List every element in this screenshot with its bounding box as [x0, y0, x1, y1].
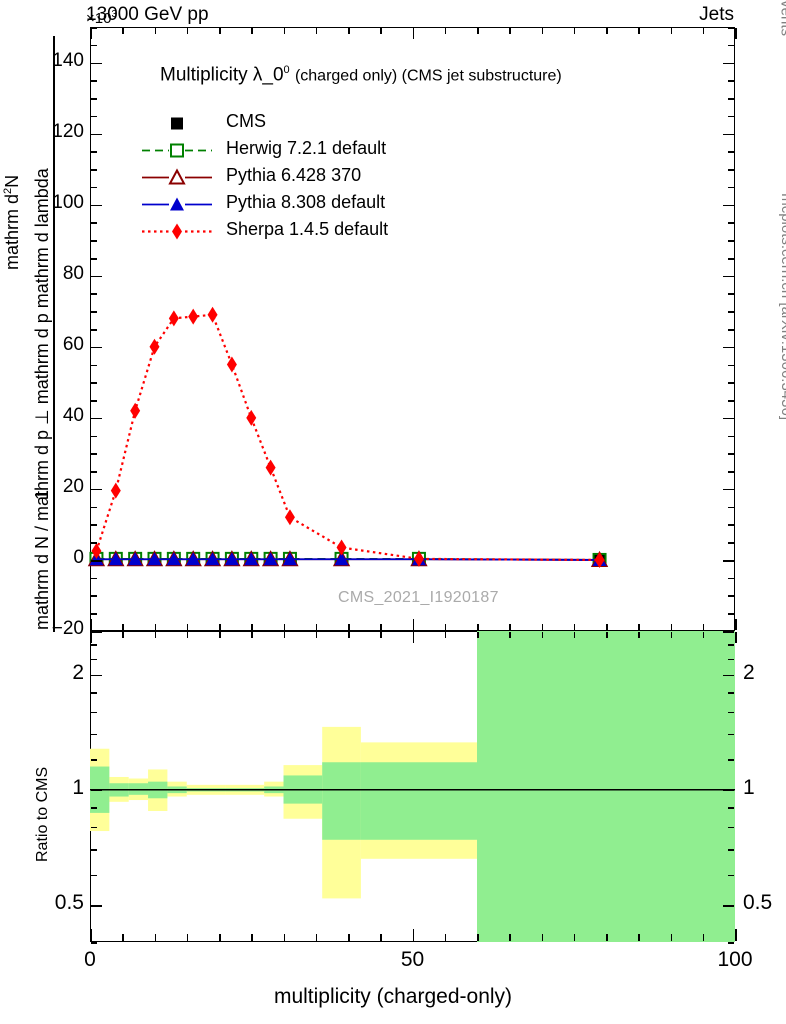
ratio-x-tick-bottom: [284, 934, 286, 941]
x-tick-bottom: [445, 624, 447, 630]
x-tick-bottom: [284, 624, 286, 630]
legend-symbol: [140, 137, 214, 164]
y-minor-tick: [91, 329, 97, 331]
data-marker-square-open: [171, 145, 183, 157]
ratio-minor-tick-right: [728, 734, 734, 736]
ratio-x-tick-top: [413, 632, 415, 643]
y-minor-tick: [91, 382, 97, 384]
x-tick-bottom: [413, 619, 415, 630]
y-minor-tick-right: [728, 45, 734, 47]
y-minor-tick-right: [728, 471, 734, 473]
x-tick-top: [703, 28, 705, 34]
y-minor-tick-right: [728, 507, 734, 509]
ratio-minor-tick: [91, 942, 97, 944]
x-tick-label: 0: [60, 948, 120, 972]
y-minor-tick-right: [728, 311, 734, 313]
ratio-x-tick-bottom: [671, 934, 673, 941]
y-minor-tick: [91, 80, 97, 82]
y-minor-tick: [91, 436, 97, 438]
y-minor-tick-right: [728, 293, 734, 295]
plot-canvas: ×103 13000 GeV pp Jets Multiplicity λ_00…: [0, 0, 786, 1024]
ratio-major-tick-right: [723, 905, 734, 907]
legend-symbol: [140, 164, 214, 191]
data-marker-diamond: [208, 307, 218, 323]
beam-label: 13000 GeV pp: [86, 4, 209, 26]
y-minor-tick-right: [728, 80, 734, 82]
y-minor-tick: [91, 45, 97, 47]
data-marker-triangle-open: [170, 171, 184, 184]
ratio-major-tick: [91, 905, 102, 907]
ratio-x-tick-top: [638, 632, 640, 638]
ratio-x-tick-top: [477, 632, 479, 638]
legend-label: Herwig 7.2.1 default: [226, 138, 386, 159]
y-minor-tick-right: [728, 453, 734, 455]
ratio-x-tick-bottom: [574, 934, 576, 941]
ratio-major-tick: [91, 675, 102, 677]
y-minor-tick: [91, 542, 97, 544]
y-minor-tick: [91, 524, 97, 526]
y-major-tick-right: [723, 560, 734, 562]
ratio-x-tick-bottom: [187, 934, 189, 941]
ratio-minor-tick-right: [728, 807, 734, 809]
ratio-minor-tick-right: [728, 659, 734, 661]
x-tick-bottom: [671, 624, 673, 630]
y-minor-tick: [91, 400, 97, 402]
ratio-plot-graphics: [90, 631, 735, 942]
ratio-minor-tick-right: [728, 942, 734, 944]
x-tick-top: [477, 28, 479, 34]
ratio-x-tick-top: [380, 632, 382, 638]
y-major-tick: [91, 63, 102, 65]
legend-label: Sherpa 1.4.5 default: [226, 219, 388, 240]
x-tick-bottom: [509, 624, 511, 630]
y-major-tick: [91, 134, 102, 136]
data-marker-diamond: [130, 403, 140, 419]
y-minor-tick: [91, 613, 97, 615]
ratio-x-tick-top: [90, 632, 92, 643]
ratio-minor-tick: [91, 734, 97, 736]
y-minor-tick: [91, 507, 97, 509]
y-minor-tick: [91, 311, 97, 313]
ratio-minor-tick: [91, 659, 97, 661]
y-major-tick-right: [723, 134, 734, 136]
ratio-x-tick-bottom: [122, 934, 124, 941]
x-tick-label: 100: [705, 948, 765, 972]
ratio-x-tick-bottom: [703, 934, 705, 941]
x-tick-bottom: [477, 624, 479, 630]
y-major-tick: [91, 560, 102, 562]
series-4: [91, 307, 604, 568]
y-major-tick-right: [723, 347, 734, 349]
analysis-id-watermark: CMS_2021_I1920187: [338, 589, 499, 607]
ratio-tick-label: 0.5: [32, 891, 84, 915]
ratio-tick-label-right: 1: [743, 776, 755, 800]
y-major-tick: [91, 489, 102, 491]
data-marker-square: [171, 118, 183, 130]
y-minor-tick-right: [728, 329, 734, 331]
ratio-x-tick-top: [348, 632, 350, 638]
ratio-x-tick-bottom: [445, 934, 447, 941]
y-minor-tick: [91, 98, 97, 100]
x-tick-bottom: [703, 624, 705, 630]
x-tick-top: [155, 28, 157, 34]
y-major-tick-right: [723, 418, 734, 420]
ratio-x-tick-bottom: [251, 934, 253, 941]
y-minor-tick: [91, 471, 97, 473]
x-tick-top: [284, 28, 286, 34]
y-minor-tick-right: [728, 151, 734, 153]
ratio-minor-tick: [91, 849, 97, 851]
y-minor-tick: [91, 169, 97, 171]
y-minor-tick-right: [728, 524, 734, 526]
x-tick-label: 50: [383, 948, 443, 972]
ratio-x-tick-top: [445, 632, 447, 638]
y-minor-tick: [91, 293, 97, 295]
y-minor-tick-right: [728, 240, 734, 242]
ratio-minor-tick: [91, 875, 97, 877]
ratio-x-tick-bottom: [542, 934, 544, 941]
x-tick-bottom: [380, 624, 382, 630]
ratio-minor-tick-right: [728, 849, 734, 851]
y-minor-tick-right: [728, 365, 734, 367]
y-major-tick: [91, 347, 102, 349]
y-axis-numerator-text: mathrm d2N: [2, 175, 23, 270]
ratio-x-tick-bottom: [638, 934, 640, 941]
y-minor-tick-right: [728, 98, 734, 100]
y-major-tick: [91, 418, 102, 420]
y-major-tick-right: [723, 489, 734, 491]
y-minor-tick: [91, 27, 97, 29]
data-marker-diamond: [266, 460, 276, 476]
ratio-x-tick-bottom: [606, 934, 608, 941]
ratio-x-tick-top: [155, 632, 157, 638]
x-tick-top: [606, 28, 608, 34]
ratio-minor-tick-right: [728, 827, 734, 829]
y-minor-tick-right: [728, 400, 734, 402]
x-tick-bottom: [735, 619, 737, 630]
ratio-x-tick-bottom: [219, 934, 221, 941]
y-minor-tick: [91, 222, 97, 224]
rivet-version-label: Rivet 3.1.10, ≥ 300k events: [778, 0, 786, 36]
ratio-tick-label-right: 0.5: [743, 891, 772, 915]
ratio-x-tick-top: [316, 632, 318, 638]
ratio-x-tick-bottom: [413, 929, 415, 941]
x-tick-top: [638, 28, 640, 34]
x-tick-top: [445, 28, 447, 34]
analysis-category-label: Jets: [699, 4, 734, 26]
ratio-uncertainty-band-inner: [361, 762, 477, 840]
x-tick-bottom: [606, 624, 608, 630]
x-tick-top: [316, 28, 318, 34]
ratio-major-tick-right: [723, 790, 734, 792]
x-tick-top: [219, 28, 221, 34]
legend-symbol: [140, 110, 214, 137]
ratio-x-tick-bottom: [477, 934, 479, 941]
x-tick-top: [122, 28, 124, 34]
ratio-x-tick-top: [187, 632, 189, 638]
ratio-uncertainty-band-inner: [477, 631, 735, 942]
y-minor-tick-right: [728, 578, 734, 580]
ratio-x-tick-bottom: [90, 929, 92, 941]
ratio-x-tick-top: [574, 632, 576, 638]
legend-label: Pythia 8.308 default: [226, 192, 385, 213]
data-marker-diamond: [150, 339, 160, 355]
x-tick-bottom: [155, 624, 157, 630]
y-minor-tick-right: [728, 382, 734, 384]
series-line: [96, 315, 599, 560]
y-minor-tick-right: [728, 613, 734, 615]
ratio-minor-tick: [91, 807, 97, 809]
x-tick-bottom: [251, 624, 253, 630]
ratio-uncertainty-band-inner: [322, 762, 361, 840]
data-marker-diamond: [246, 410, 256, 426]
ratio-minor-tick-right: [728, 875, 734, 877]
y-tick-label: 120: [32, 121, 84, 143]
y-tick-label: 140: [32, 50, 84, 72]
ratio-x-tick-top: [509, 632, 511, 638]
y-minor-tick-right: [728, 542, 734, 544]
x-axis-title: multiplicity (charged-only): [0, 985, 786, 1009]
data-marker-diamond: [111, 483, 121, 499]
y-major-tick: [91, 205, 102, 207]
ratio-x-tick-bottom: [509, 934, 511, 941]
x-tick-top: [380, 28, 382, 34]
ratio-tick-label-right: 2: [743, 661, 755, 685]
y-minor-tick: [91, 116, 97, 118]
y-minor-tick: [91, 578, 97, 580]
ratio-x-tick-bottom: [316, 934, 318, 941]
x-tick-top: [251, 28, 253, 34]
x-tick-top: [735, 28, 737, 39]
ratio-minor-tick-right: [728, 644, 734, 646]
ratio-tick-label: 1: [32, 776, 84, 800]
ratio-x-tick-top: [284, 632, 286, 638]
plot-title: Multiplicity λ_00 (charged only) (CMS je…: [160, 64, 562, 86]
ratio-minor-tick: [91, 692, 97, 694]
x-tick-bottom: [638, 624, 640, 630]
legend-label: Pythia 6.428 370: [226, 165, 361, 186]
ratio-x-tick-top: [606, 632, 608, 638]
y-minor-tick: [91, 453, 97, 455]
y-minor-tick-right: [728, 27, 734, 29]
x-tick-top: [90, 28, 92, 39]
ratio-minor-tick: [91, 759, 97, 761]
data-marker-diamond: [188, 309, 198, 325]
x-tick-top: [574, 28, 576, 34]
x-tick-bottom: [348, 624, 350, 630]
x-tick-bottom: [187, 624, 189, 630]
y-minor-tick: [91, 240, 97, 242]
y-minor-tick: [91, 187, 97, 189]
y-minor-tick: [91, 595, 97, 597]
y-minor-tick: [91, 258, 97, 260]
x-tick-top: [509, 28, 511, 34]
x-tick-top: [413, 28, 415, 39]
x-tick-bottom: [542, 624, 544, 630]
ratio-minor-tick: [91, 827, 97, 829]
legend-symbol: [140, 218, 214, 245]
ratio-major-tick-right: [723, 675, 734, 677]
ratio-major-tick: [91, 790, 102, 792]
y-minor-tick-right: [728, 169, 734, 171]
ratio-x-tick-bottom: [155, 934, 157, 941]
y-minor-tick-right: [728, 116, 734, 118]
x-tick-top: [348, 28, 350, 34]
ratio-x-tick-bottom: [348, 934, 350, 941]
y-minor-tick-right: [728, 595, 734, 597]
ratio-x-tick-top: [703, 632, 705, 638]
ratio-minor-tick-right: [728, 712, 734, 714]
ratio-x-tick-top: [219, 632, 221, 638]
ratio-minor-tick: [91, 631, 97, 633]
y-axis-fraction-bar: [53, 36, 55, 632]
ratio-minor-tick-right: [728, 759, 734, 761]
y-minor-tick: [91, 365, 97, 367]
y-minor-tick-right: [728, 187, 734, 189]
y-major-tick-right: [723, 205, 734, 207]
x-tick-bottom: [219, 624, 221, 630]
ratio-x-tick-top: [122, 632, 124, 638]
ratio-x-tick-bottom: [735, 929, 737, 941]
data-marker-diamond: [172, 224, 182, 240]
ratio-x-tick-top: [671, 632, 673, 638]
ratio-minor-tick: [91, 644, 97, 646]
x-tick-top: [671, 28, 673, 34]
ratio-x-tick-top: [251, 632, 253, 638]
ratio-minor-tick-right: [728, 631, 734, 633]
y-major-tick-right: [723, 276, 734, 278]
y-minor-tick-right: [728, 222, 734, 224]
x-tick-bottom: [316, 624, 318, 630]
y-minor-tick: [91, 151, 97, 153]
data-marker-diamond: [285, 509, 295, 525]
x-tick-bottom: [574, 624, 576, 630]
legend-symbol: [140, 191, 214, 218]
y-minor-tick-right: [728, 258, 734, 260]
legend-label: CMS: [226, 111, 266, 132]
ratio-x-tick-top: [542, 632, 544, 638]
y-axis-denominator-text: mathrm d N / mathrm d p ⊥ mathrm d p mat…: [32, 168, 53, 630]
mcplots-credit-label: mcplots.cern.ch [arXiv:1306.3436]: [778, 193, 786, 420]
y-major-tick-right: [723, 63, 734, 65]
ratio-tick-label: 2: [32, 661, 84, 685]
ratio-x-tick-top: [735, 632, 737, 643]
x-tick-top: [187, 28, 189, 34]
y-minor-tick-right: [728, 436, 734, 438]
x-tick-top: [542, 28, 544, 34]
data-marker-diamond: [227, 357, 237, 373]
ratio-minor-tick: [91, 712, 97, 714]
x-tick-bottom: [122, 624, 124, 630]
x-tick-bottom: [90, 619, 92, 630]
data-marker-triangle: [170, 198, 184, 211]
ratio-x-tick-bottom: [380, 934, 382, 941]
y-major-tick: [91, 276, 102, 278]
ratio-minor-tick-right: [728, 692, 734, 694]
